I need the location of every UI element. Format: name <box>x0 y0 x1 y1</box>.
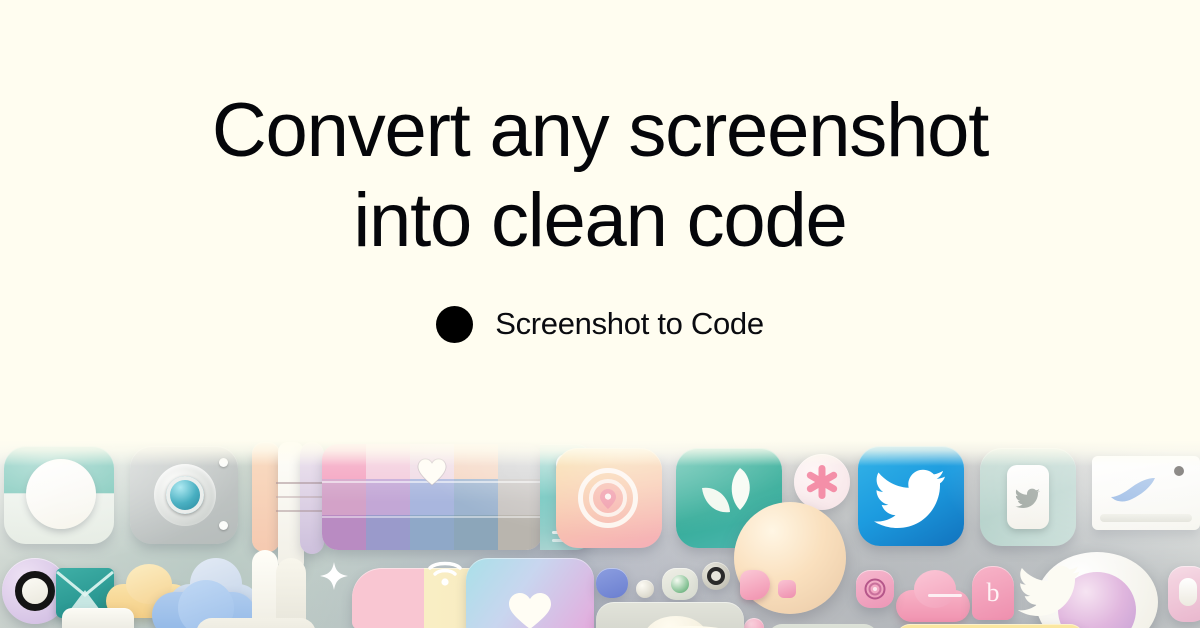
heart-icon <box>508 592 552 628</box>
illustration-green-mini-tile <box>662 568 698 600</box>
illustration-right-pink-pill <box>1168 566 1200 622</box>
illustration-tile-gradient-heart-tile <box>466 558 594 628</box>
illustration-pink-cloud <box>896 570 970 622</box>
blue-bird-icon <box>1110 476 1156 504</box>
illustration-tile-camera-tile <box>130 446 238 544</box>
illustration-gray-panel <box>596 602 744 628</box>
white-circle-icon <box>26 459 96 529</box>
letter-b-icon: b <box>983 576 1003 610</box>
illustration-tile-yellow-tile <box>896 624 1084 628</box>
brand-name: Screenshot to Code <box>495 306 764 342</box>
brand-row: Screenshot to Code <box>436 306 764 343</box>
illustration-pink-gem-small <box>778 580 796 598</box>
hero-text-block: Convert any screenshot into clean code S… <box>0 0 1200 445</box>
swirl-icon <box>864 578 886 600</box>
camera-lens-icon <box>166 476 204 514</box>
illustration-tile-twitter-tile <box>858 446 964 546</box>
illustration-white-pillars <box>252 550 308 628</box>
illustration-tile-mint-bird-tile <box>980 448 1076 546</box>
illustration-tile-pink-swirl-tile <box>856 570 894 608</box>
illustration-tile-color-swatch-grid <box>322 444 542 550</box>
illustration-white-box <box>62 608 134 628</box>
illustration-small-dot <box>636 580 654 598</box>
white-bird-glyph-icon <box>1018 564 1082 616</box>
flower-asterisk-icon <box>803 463 841 501</box>
illustration-band: b <box>0 440 1200 628</box>
wifi-icon <box>426 558 464 588</box>
twitter-bird-icon <box>874 468 948 528</box>
map-pin-rings-icon <box>599 488 617 510</box>
illustration-card-bird-card <box>1092 456 1200 530</box>
illustration-badge-flower <box>794 454 850 510</box>
sparkle-icon <box>320 562 348 590</box>
heart-icon <box>417 458 447 486</box>
black-circle-icon <box>436 306 473 343</box>
illustration-bottom-mound-left <box>196 618 316 628</box>
headline-line-1: Convert any screenshot <box>212 86 988 176</box>
illustration-bottom-mound-right <box>768 624 878 628</box>
illustration-small-blue-square <box>596 568 628 598</box>
illustration-dark-ring <box>702 562 730 590</box>
page-title: Convert any screenshot into clean code <box>212 86 988 265</box>
og-card: b <box>0 0 1200 628</box>
illustration-strip-lavender <box>300 442 324 554</box>
illustration-tile-pink-b-tile: b <box>972 566 1014 620</box>
illustration-tile-location-tile <box>556 448 662 548</box>
bird-badge-icon <box>1015 488 1041 508</box>
headline-line-2: into clean code <box>212 176 988 266</box>
